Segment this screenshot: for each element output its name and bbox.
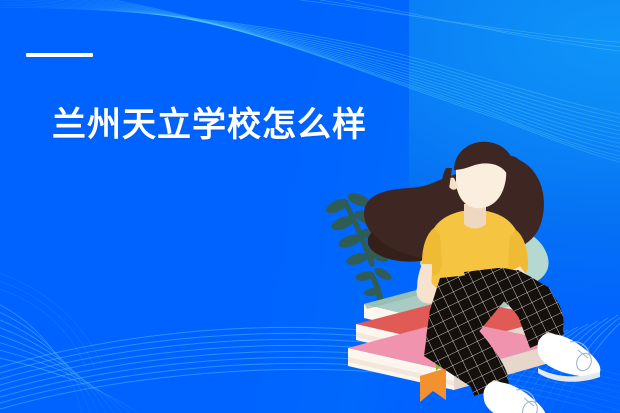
title-accent-bar [26,53,93,57]
sneaker-lower [484,382,547,413]
promo-banner: 兰州天立学校怎么样 [0,0,620,413]
hero-illustration [312,128,620,413]
woman-on-books-illustration [312,128,620,413]
sneaker-upper [538,334,601,382]
